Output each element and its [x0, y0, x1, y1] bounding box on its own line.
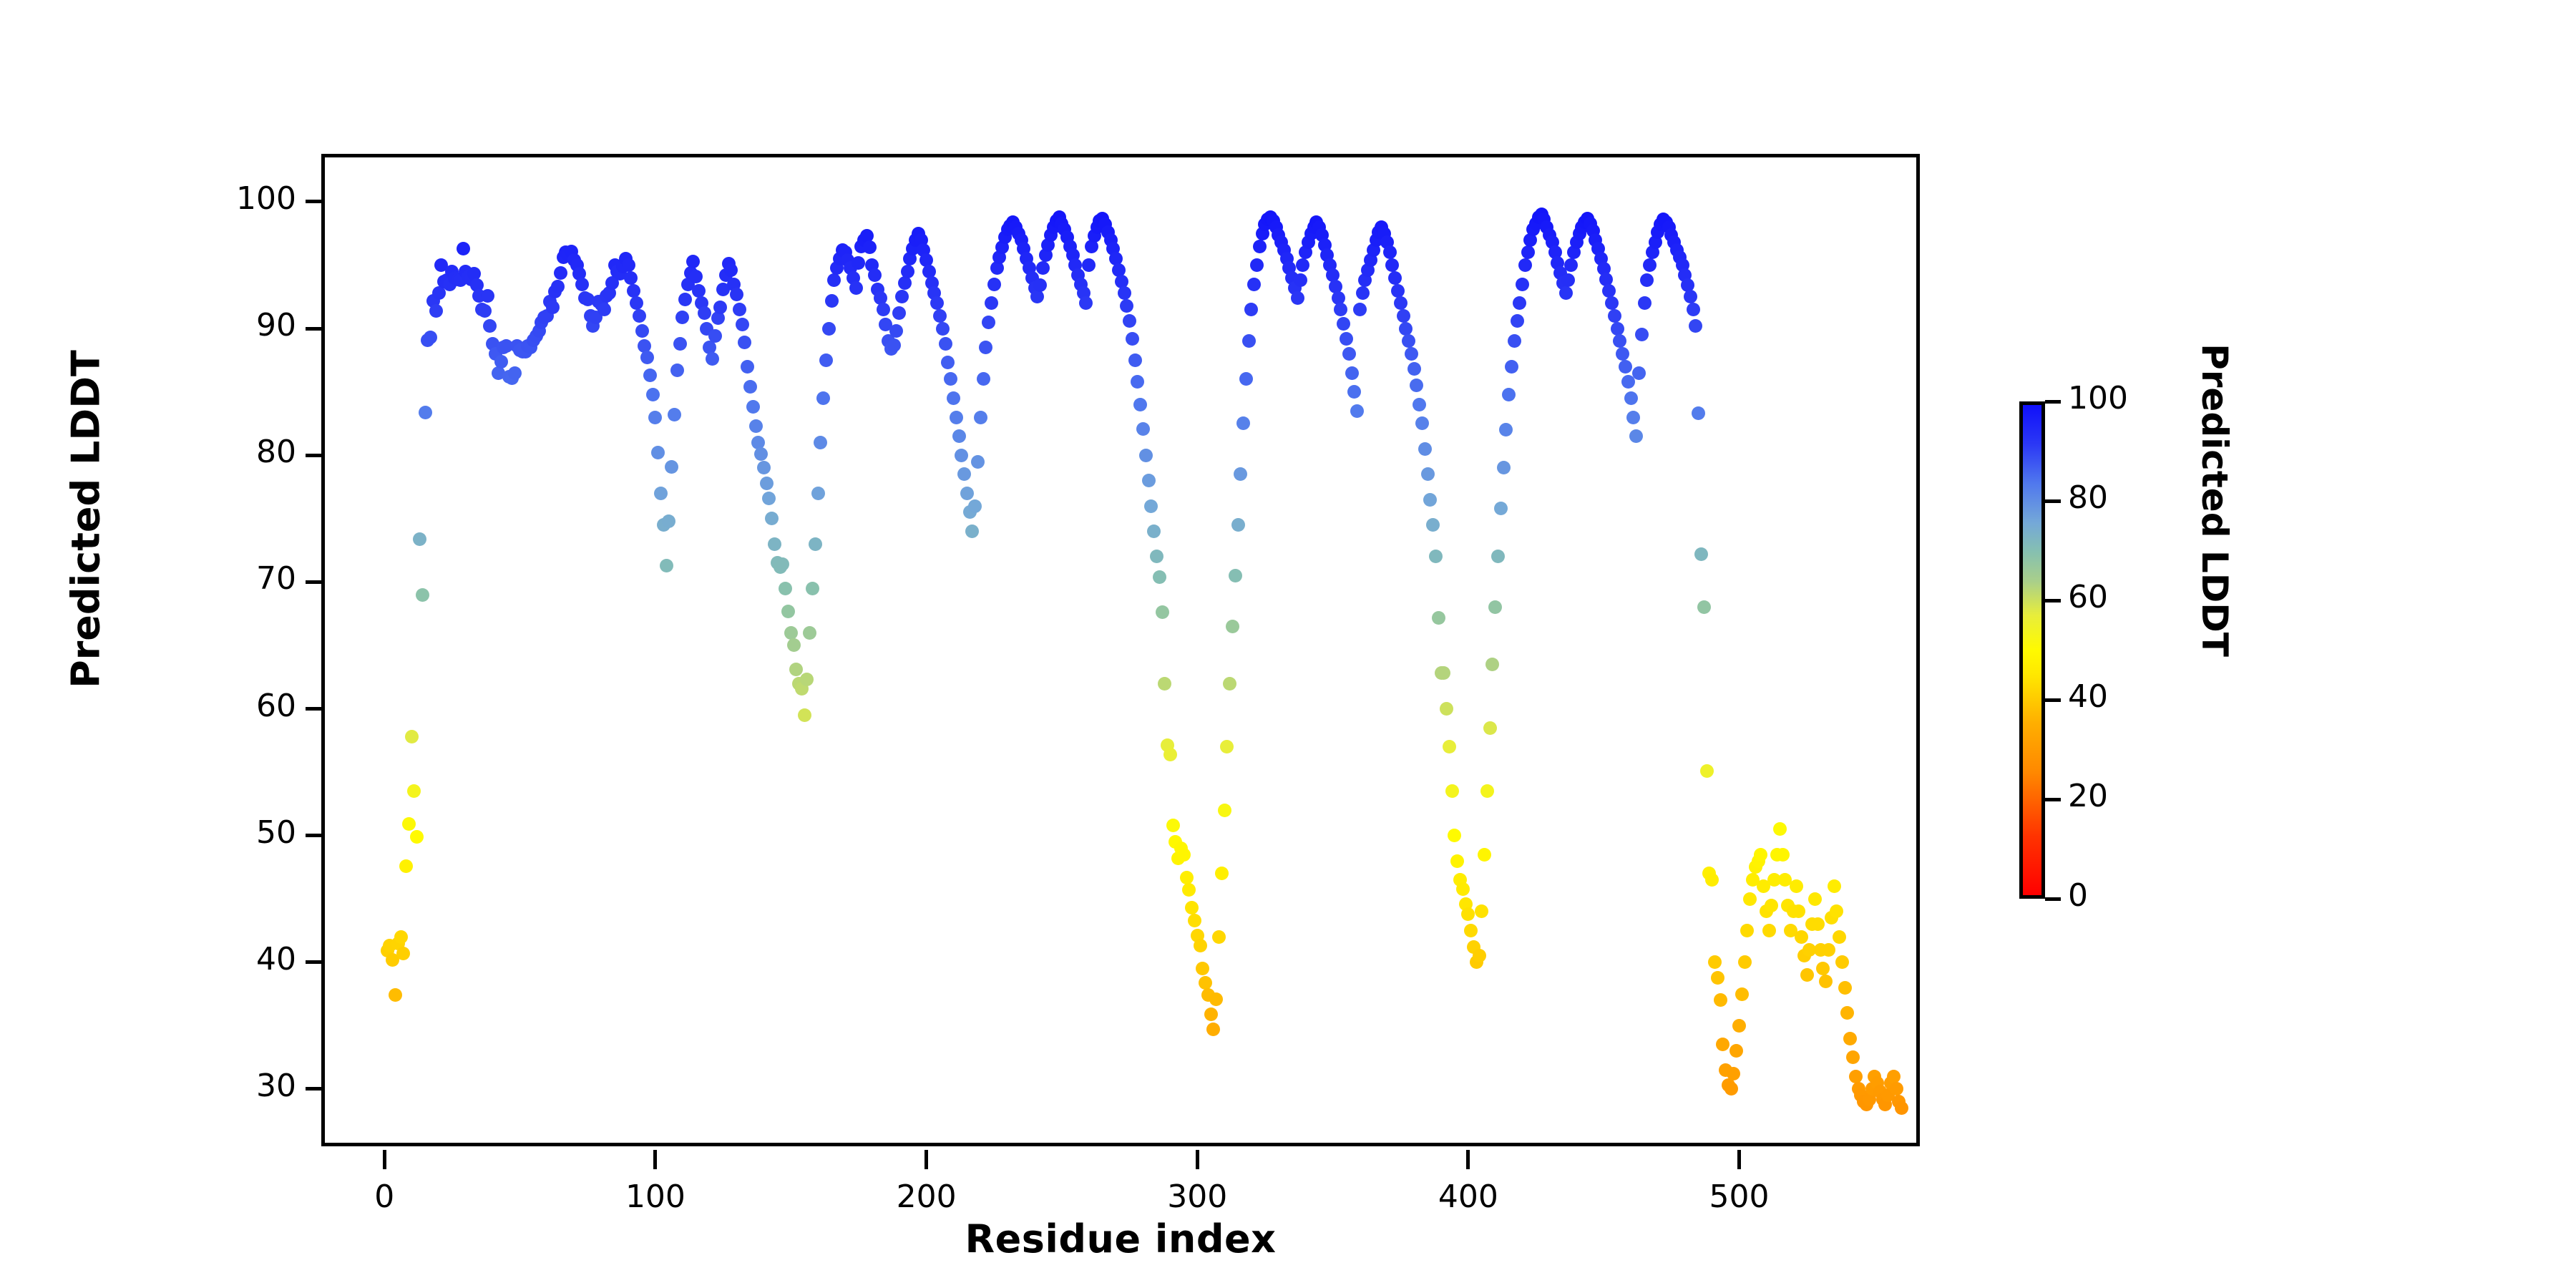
scatter-point	[1483, 721, 1497, 735]
scatter-point	[1513, 296, 1526, 310]
scatter-point	[1131, 375, 1144, 389]
y-tick	[306, 580, 325, 584]
scatter-point	[1822, 943, 1835, 957]
scatter-point	[944, 372, 957, 386]
colorbar-tick-label: 20	[2068, 778, 2108, 814]
scatter-point	[1795, 930, 1808, 944]
scatter-point	[1079, 296, 1093, 310]
scatter-point	[1835, 955, 1849, 969]
scatter-point	[1762, 924, 1776, 937]
scatter-point	[965, 525, 979, 538]
scatter-point	[1126, 332, 1139, 346]
scatter-point	[1429, 550, 1443, 563]
scatter-point	[1738, 955, 1752, 969]
scatter-point	[1692, 406, 1705, 420]
scatter-point	[457, 242, 470, 255]
scatter-point	[765, 512, 779, 525]
y-tick-label: 70	[203, 560, 296, 597]
scatter-point	[901, 265, 914, 278]
y-tick	[306, 960, 325, 964]
scatter-point	[1194, 939, 1207, 952]
scatter-point	[1491, 550, 1505, 563]
scatter-point	[1204, 1008, 1218, 1021]
scatter-point	[936, 322, 950, 336]
scatter-point	[1819, 975, 1833, 988]
scatter-point	[947, 391, 960, 405]
scatter-point	[1443, 740, 1456, 753]
scatter-point	[633, 309, 646, 323]
scatter-point	[1700, 764, 1714, 778]
scatter-point	[1156, 605, 1169, 619]
scatter-point	[1120, 299, 1133, 313]
scatter-point	[1485, 658, 1499, 671]
colorbar-title: Predicted LDDT	[2194, 328, 2235, 672]
scatter-point	[1890, 1082, 1903, 1096]
scatter-point	[741, 360, 754, 374]
scatter-point	[1838, 981, 1852, 995]
scatter-point	[776, 557, 789, 571]
scatter-point	[819, 353, 833, 367]
x-tick	[1196, 1150, 1199, 1169]
scatter-point	[1347, 385, 1361, 399]
scatter-point	[746, 400, 760, 414]
scatter-point	[724, 263, 738, 277]
colorbar-tick-label: 60	[2068, 579, 2108, 615]
scatter-point	[1407, 362, 1421, 376]
scatter-point	[1142, 474, 1156, 487]
scatter-point	[1415, 416, 1429, 430]
scatter-point	[1405, 347, 1418, 361]
scatter-point	[863, 240, 877, 254]
scatter-point	[651, 446, 665, 459]
scatter-point	[1229, 569, 1242, 582]
scatter-point	[1790, 879, 1803, 893]
scatter-point	[1294, 273, 1307, 287]
scatter-point	[736, 318, 749, 331]
scatter-point	[1030, 290, 1044, 303]
scatter-point	[673, 337, 687, 351]
scatter-point	[1716, 1038, 1729, 1051]
scatter-point	[952, 429, 966, 443]
scatter-point	[1136, 422, 1150, 436]
scatter-point	[419, 406, 432, 419]
scatter-point	[1036, 261, 1050, 275]
scatter-point	[692, 284, 706, 298]
scatter-point	[399, 859, 413, 873]
scatter-point	[1199, 976, 1212, 990]
scatter-point	[1624, 391, 1638, 405]
scatter-point	[779, 582, 792, 595]
scatter-point	[698, 306, 711, 320]
scatter-point	[1480, 784, 1494, 798]
scatter-point	[622, 258, 635, 272]
scatter-point	[678, 293, 692, 306]
scatter-point	[749, 419, 763, 433]
scatter-point	[1223, 677, 1236, 691]
scatter-point	[1564, 258, 1578, 272]
scatter-point	[760, 477, 774, 490]
scatter-point	[1166, 819, 1180, 832]
scatter-point	[483, 319, 497, 333]
x-tick-label: 200	[869, 1179, 984, 1215]
scatter-point	[968, 499, 982, 513]
x-tick	[1737, 1150, 1741, 1169]
colorbar-tick-label: 100	[2068, 380, 2128, 416]
scatter-point	[1629, 429, 1643, 443]
scatter-point	[754, 447, 768, 461]
scatter-point	[1494, 502, 1508, 515]
scatter-point	[1461, 907, 1475, 921]
colorbar-tick	[2045, 798, 2061, 801]
scatter-point	[738, 336, 751, 349]
colorbar-tick	[2045, 400, 2061, 404]
scatter-point	[1608, 309, 1621, 323]
scatter-point	[1828, 879, 1841, 893]
scatter-point	[1128, 353, 1142, 367]
scatter-point	[713, 301, 727, 314]
y-tick	[306, 1087, 325, 1091]
scatter-point	[624, 271, 638, 285]
scatter-point	[816, 391, 830, 405]
scatter-point	[1714, 993, 1727, 1007]
scatter-point	[627, 284, 640, 298]
scatter-point	[933, 309, 947, 323]
scatter-point	[1437, 666, 1450, 680]
colorbar-tick-label: 40	[2068, 678, 2108, 715]
scatter-point	[1743, 892, 1757, 906]
scatter-point	[868, 268, 882, 282]
scatter-point	[546, 301, 560, 314]
scatter-point	[827, 273, 841, 287]
scatter-point	[1177, 848, 1191, 862]
scatter-point	[1423, 493, 1437, 507]
scatter-point	[1843, 1032, 1857, 1045]
scatter-point	[1792, 904, 1805, 918]
scatter-point	[1432, 611, 1445, 625]
x-tick	[924, 1150, 928, 1169]
y-tick	[306, 834, 325, 837]
scatter-point	[1239, 372, 1253, 386]
scatter-point	[1833, 930, 1846, 944]
scatter-point	[389, 988, 402, 1002]
scatter-point	[892, 306, 906, 320]
scatter-point	[1226, 620, 1239, 633]
scatter-point	[809, 537, 822, 551]
scatter-point	[1250, 258, 1264, 272]
scatter-point	[1619, 360, 1632, 374]
scatter-point	[670, 364, 684, 377]
scatter-point	[1475, 904, 1488, 918]
colorbar: 020406080100	[2019, 401, 2045, 899]
scatter-point	[1611, 322, 1624, 336]
scatter-point	[1488, 600, 1502, 614]
y-tick-label: 50	[203, 814, 296, 851]
scatter-point	[1180, 871, 1194, 884]
y-tick-label: 30	[203, 1068, 296, 1104]
scatter-point	[1740, 924, 1754, 937]
scatter-point	[1118, 286, 1131, 300]
scatter-point	[784, 626, 798, 640]
scatter-point	[1394, 296, 1407, 310]
x-tick-label: 500	[1682, 1179, 1797, 1215]
scatter-point	[825, 294, 839, 308]
scatter-points-layer	[325, 157, 1916, 1143]
scatter-point	[1478, 848, 1491, 862]
scatter-point	[1402, 334, 1415, 348]
y-tick	[306, 327, 325, 331]
y-tick	[306, 707, 325, 711]
scatter-point	[1887, 1070, 1901, 1083]
scatter-point	[706, 352, 719, 366]
scatter-point	[1350, 404, 1364, 418]
scatter-point	[1139, 449, 1153, 462]
scatter-point	[957, 467, 971, 481]
scatter-point	[1356, 286, 1370, 300]
x-tick	[1466, 1150, 1470, 1169]
scatter-point	[1849, 1070, 1863, 1083]
scatter-point	[1291, 291, 1304, 305]
x-tick-label: 400	[1411, 1179, 1526, 1215]
scatter-point	[413, 532, 426, 546]
scatter-point	[1561, 273, 1575, 287]
scatter-point	[1521, 245, 1535, 259]
scatter-point	[478, 304, 492, 318]
scatter-point	[481, 289, 494, 303]
scatter-point	[554, 266, 567, 280]
scatter-point	[1643, 258, 1657, 272]
scatter-point	[1632, 366, 1646, 380]
scatter-point	[494, 355, 508, 369]
scatter-point	[1811, 917, 1825, 931]
scatter-point	[648, 411, 662, 424]
scatter-point	[1559, 286, 1573, 300]
scatter-point	[1464, 924, 1478, 937]
scatter-point	[1516, 278, 1529, 291]
scatter-point	[1613, 334, 1626, 348]
scatter-point	[1450, 854, 1464, 868]
scatter-point	[1689, 319, 1702, 333]
scatter-point	[852, 256, 865, 270]
scatter-point	[1448, 829, 1461, 842]
scatter-point	[1846, 1050, 1860, 1064]
scatter-point	[1033, 278, 1047, 292]
scatter-point	[898, 276, 912, 290]
scatter-point	[1385, 258, 1399, 272]
x-tick-label: 0	[327, 1179, 441, 1215]
scatter-point	[643, 369, 657, 382]
scatter-point	[1218, 804, 1231, 817]
scatter-point	[1163, 748, 1177, 761]
scatter-point	[889, 324, 903, 338]
scatter-point	[979, 341, 992, 354]
scatter-point	[1440, 702, 1453, 716]
scatter-point	[1236, 416, 1250, 430]
scatter-point	[930, 296, 944, 310]
scatter-point	[849, 281, 863, 295]
scatter-point	[1242, 334, 1256, 348]
scatter-point	[1616, 347, 1629, 361]
scatter-point	[597, 303, 611, 316]
scatter-point	[743, 380, 757, 394]
scatter-point	[1732, 1019, 1746, 1033]
scatter-point	[1212, 930, 1226, 944]
scatter-point	[686, 255, 700, 268]
colorbar-tick	[2045, 897, 2061, 901]
scatter-point	[1830, 904, 1843, 918]
scatter-point	[416, 588, 429, 602]
scatter-point	[1244, 303, 1258, 316]
scatter-point	[675, 311, 689, 324]
scatter-point	[1234, 467, 1247, 481]
scatter-point	[1497, 461, 1511, 474]
scatter-point	[508, 366, 522, 380]
scatter-point	[1391, 284, 1405, 298]
scatter-point	[1413, 398, 1426, 411]
scatter-point	[1499, 423, 1513, 436]
scatter-point	[1518, 258, 1532, 272]
scatter-point	[1123, 314, 1136, 328]
scatter-point	[1816, 962, 1830, 975]
scatter-point	[1505, 360, 1518, 374]
scatter-point	[1215, 867, 1229, 880]
scatter-point	[665, 460, 678, 474]
scatter-point	[1426, 518, 1440, 532]
scatter-point	[1150, 550, 1163, 563]
scatter-point	[1383, 245, 1397, 259]
scatter-point	[635, 324, 649, 338]
scatter-point	[407, 784, 421, 798]
scatter-point	[1602, 284, 1616, 298]
scatter-point	[1209, 992, 1223, 1006]
scatter-point	[1147, 525, 1161, 538]
scatter-point	[798, 708, 811, 722]
scatter-point	[410, 830, 424, 844]
scatter-point	[1337, 317, 1350, 331]
scatter-point	[1773, 822, 1787, 836]
scatter-point	[803, 626, 816, 640]
scatter-point	[396, 947, 410, 960]
y-tick-label: 80	[203, 434, 296, 470]
scatter-point	[1296, 258, 1309, 272]
colorbar-gradient	[2019, 401, 2045, 899]
scatter-point	[1729, 1044, 1743, 1058]
scatter-point	[887, 338, 901, 352]
scatter-point	[654, 487, 668, 500]
scatter-point	[660, 559, 673, 572]
scatter-point	[551, 280, 565, 293]
colorbar-tick	[2045, 698, 2061, 702]
scatter-point	[1765, 899, 1778, 912]
scatter-point	[941, 356, 955, 369]
scatter-point	[1697, 600, 1711, 614]
scatter-point	[1626, 411, 1640, 424]
y-tick	[306, 454, 325, 457]
scatter-point	[1388, 271, 1402, 285]
scatter-point	[1334, 303, 1347, 316]
colorbar-tick	[2045, 499, 2061, 503]
y-tick-label: 40	[203, 941, 296, 977]
scatter-point	[1182, 883, 1196, 897]
scatter-point	[1635, 328, 1649, 341]
scatter-point	[1808, 892, 1822, 906]
scatter-point	[985, 296, 998, 310]
scatter-point	[733, 303, 746, 316]
scatter-point	[982, 316, 995, 329]
scatter-point	[1727, 1067, 1740, 1080]
scatter-point	[1220, 740, 1234, 753]
scatter-point	[1708, 955, 1722, 969]
scatter-point	[1735, 987, 1749, 1001]
x-tick	[383, 1150, 386, 1169]
scatter-point	[974, 411, 987, 424]
scatter-point	[787, 638, 801, 652]
scatter-point	[402, 817, 416, 831]
scatter-point	[1502, 388, 1516, 401]
scatter-point	[1895, 1101, 1908, 1115]
scatter-point	[689, 270, 703, 283]
scatter-point	[1508, 334, 1521, 348]
figure-root: Predicted LDDT Residue index 30405060708…	[0, 0, 2576, 1288]
scatter-point	[955, 449, 968, 462]
scatter-point	[1188, 914, 1201, 927]
y-tick-label: 90	[203, 307, 296, 343]
scatter-point	[1340, 332, 1353, 346]
scatter-point	[394, 930, 408, 944]
scatter-point	[814, 436, 827, 449]
scatter-point	[1153, 570, 1166, 584]
scatter-point	[1399, 322, 1413, 336]
scatter-point	[1206, 1023, 1220, 1036]
scatter-point	[575, 278, 589, 291]
scatter-point	[987, 278, 1001, 291]
scatter-point	[1776, 848, 1790, 862]
scatter-point	[1144, 499, 1158, 513]
scatter-point	[1711, 971, 1724, 985]
scatter-point	[822, 322, 836, 336]
scatter-point	[1445, 784, 1459, 798]
scatter-point	[1345, 366, 1359, 380]
scatter-point	[1421, 467, 1435, 481]
scatter-point	[1638, 296, 1652, 310]
scatter-point	[1840, 1006, 1854, 1020]
scatter-point	[730, 288, 743, 301]
scatter-point	[1418, 442, 1432, 456]
scatter-point	[1342, 347, 1356, 361]
scatter-point	[1511, 314, 1524, 328]
scatter-point	[1684, 290, 1697, 303]
scatter-point	[1196, 962, 1209, 975]
scatter-point	[762, 492, 776, 505]
scatter-point	[877, 303, 890, 316]
scatter-point	[662, 514, 675, 528]
scatter-point	[1605, 296, 1619, 310]
scatter-point	[424, 331, 437, 344]
scatter-point	[1705, 873, 1719, 887]
colorbar-tick-label: 80	[2068, 479, 2108, 516]
x-tick	[653, 1150, 657, 1169]
scatter-point	[1724, 1082, 1738, 1096]
y-tick-label: 60	[203, 688, 296, 724]
y-tick-label: 100	[203, 180, 296, 217]
x-tick-label: 300	[1140, 1179, 1254, 1215]
y-tick	[306, 200, 325, 203]
scatter-point	[800, 673, 814, 686]
scatter-point	[768, 537, 781, 551]
scatter-point	[950, 411, 963, 424]
scatter-point	[1397, 309, 1410, 323]
scatter-point	[640, 351, 654, 364]
scatter-point	[806, 582, 819, 595]
